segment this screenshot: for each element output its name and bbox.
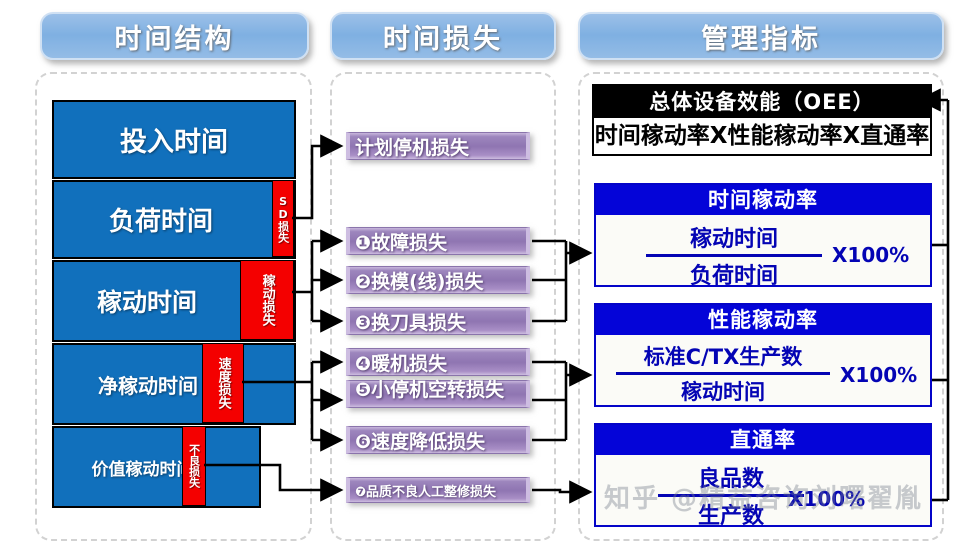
fraction-denominator: 负荷时间: [644, 258, 824, 290]
column-header-time-structure: 时间结构: [40, 12, 309, 60]
metric-title: 性能稼动率: [596, 305, 930, 335]
loss-label: SD损失: [277, 195, 288, 243]
time-block-load-time: 负荷时间: [52, 180, 296, 259]
metric-fraction: 稼动时间 负荷时间: [644, 221, 824, 290]
metric-body: 良品数 生产数 X100%: [596, 455, 930, 527]
time-block-input-time: 投入时间: [52, 100, 296, 179]
fraction-numerator: 稼动时间: [644, 221, 824, 253]
loss-bar-label: ❶故障损失: [355, 228, 447, 255]
time-block-net-operating-time: 净稼动时间: [52, 343, 296, 425]
metric-multiplier: X100%: [840, 363, 917, 387]
column-header-management-index: 管理指标: [578, 12, 944, 60]
loss-bar-label: 计划停机损失: [355, 133, 469, 160]
loss-bar-label: ❻速度降低损失: [355, 427, 485, 454]
oee-card: 总体设备效能（OEE） 时间稼动率X性能稼动率X直通率: [592, 84, 932, 156]
loss-bar-speed-reduction: ❻速度降低损失: [346, 426, 530, 454]
metric-fraction: 标准C/TX生产数 稼动时间: [614, 341, 832, 406]
column-header-label: 时间损失: [383, 17, 503, 56]
loss-speed: 速度损失: [202, 343, 244, 423]
time-block-label: 负荷时间: [109, 201, 213, 238]
loss-bar-quality-rework: ❼品质不良人工整修损失: [346, 477, 530, 503]
column-header-label: 时间结构: [115, 17, 235, 56]
metric-body: 标准C/TX生产数 稼动时间 X100%: [596, 335, 930, 407]
time-block-label: 投入时间: [120, 120, 228, 159]
metric-title: 时间稼动率: [596, 185, 930, 215]
time-block-label: 价值稼动时间: [92, 455, 194, 480]
loss-sd: SD损失: [272, 180, 294, 257]
loss-defect: 不良损失: [182, 426, 206, 506]
column-header-label: 管理指标: [701, 17, 821, 56]
loss-bar-breakdown: ❶故障损失: [346, 227, 530, 255]
fraction-bar: [646, 254, 822, 257]
loss-label: 速度损失: [216, 357, 229, 409]
time-block-value-operating-time: 价值稼动时间: [52, 426, 261, 508]
loss-operating: 稼动损失: [240, 260, 294, 340]
loss-bar-label: ❷换模(线)损失: [355, 267, 483, 294]
metric-fraction: 良品数 生产数: [656, 461, 806, 530]
loss-bar-label: ❺小停机空转损失: [355, 381, 526, 400]
loss-bar-label: ❹暖机损失: [355, 349, 447, 376]
metric-multiplier: X100%: [788, 487, 865, 511]
oee-formula: 时间稼动率X性能稼动率X直通率: [594, 118, 930, 154]
loss-bar-tool-change: ❸换刀具损失: [346, 307, 530, 335]
time-block-label: 稼动时间: [97, 283, 197, 319]
loss-bar-label: ❼品质不良人工整修损失: [355, 481, 496, 500]
metric-card-time-operating-rate: 时间稼动率 稼动时间 负荷时间 X100%: [594, 183, 932, 287]
metric-card-performance-operating-rate: 性能稼动率 标准C/TX生产数 稼动时间 X100%: [594, 303, 932, 407]
fraction-bar: [616, 372, 830, 375]
fraction-numerator: 良品数: [656, 461, 806, 493]
metric-body: 稼动时间 负荷时间 X100%: [596, 215, 930, 287]
fraction-denominator: 稼动时间: [614, 376, 832, 406]
oee-diagram: 时间结构 时间损失 管理指标 投入时间 负荷时间 SD损失 稼动时间 稼动损失 …: [0, 0, 957, 550]
loss-bar-changeover: ❷换模(线)损失: [346, 266, 530, 294]
oee-title: 总体设备效能（OEE）: [594, 86, 930, 118]
loss-bar-minor-stop: ❺小停机空转损失: [346, 380, 530, 408]
loss-bar-label: ❸换刀具损失: [355, 308, 466, 335]
time-block-label: 净稼动时间: [98, 370, 198, 399]
column-header-time-loss: 时间损失: [330, 12, 556, 60]
fraction-denominator: 生产数: [656, 498, 806, 530]
loss-bar-planned-stop: 计划停机损失: [346, 132, 530, 160]
metric-card-first-pass-yield: 直通率 良品数 生产数 X100%: [594, 423, 932, 527]
fraction-bar: [658, 494, 804, 497]
metric-multiplier: X100%: [832, 243, 909, 267]
loss-label: 稼动损失: [260, 274, 273, 326]
loss-bar-warmup: ❹暖机损失: [346, 348, 530, 376]
fraction-numerator: 标准C/TX生产数: [614, 341, 832, 371]
loss-label: 不良损失: [188, 444, 199, 488]
metric-title: 直通率: [596, 425, 930, 455]
